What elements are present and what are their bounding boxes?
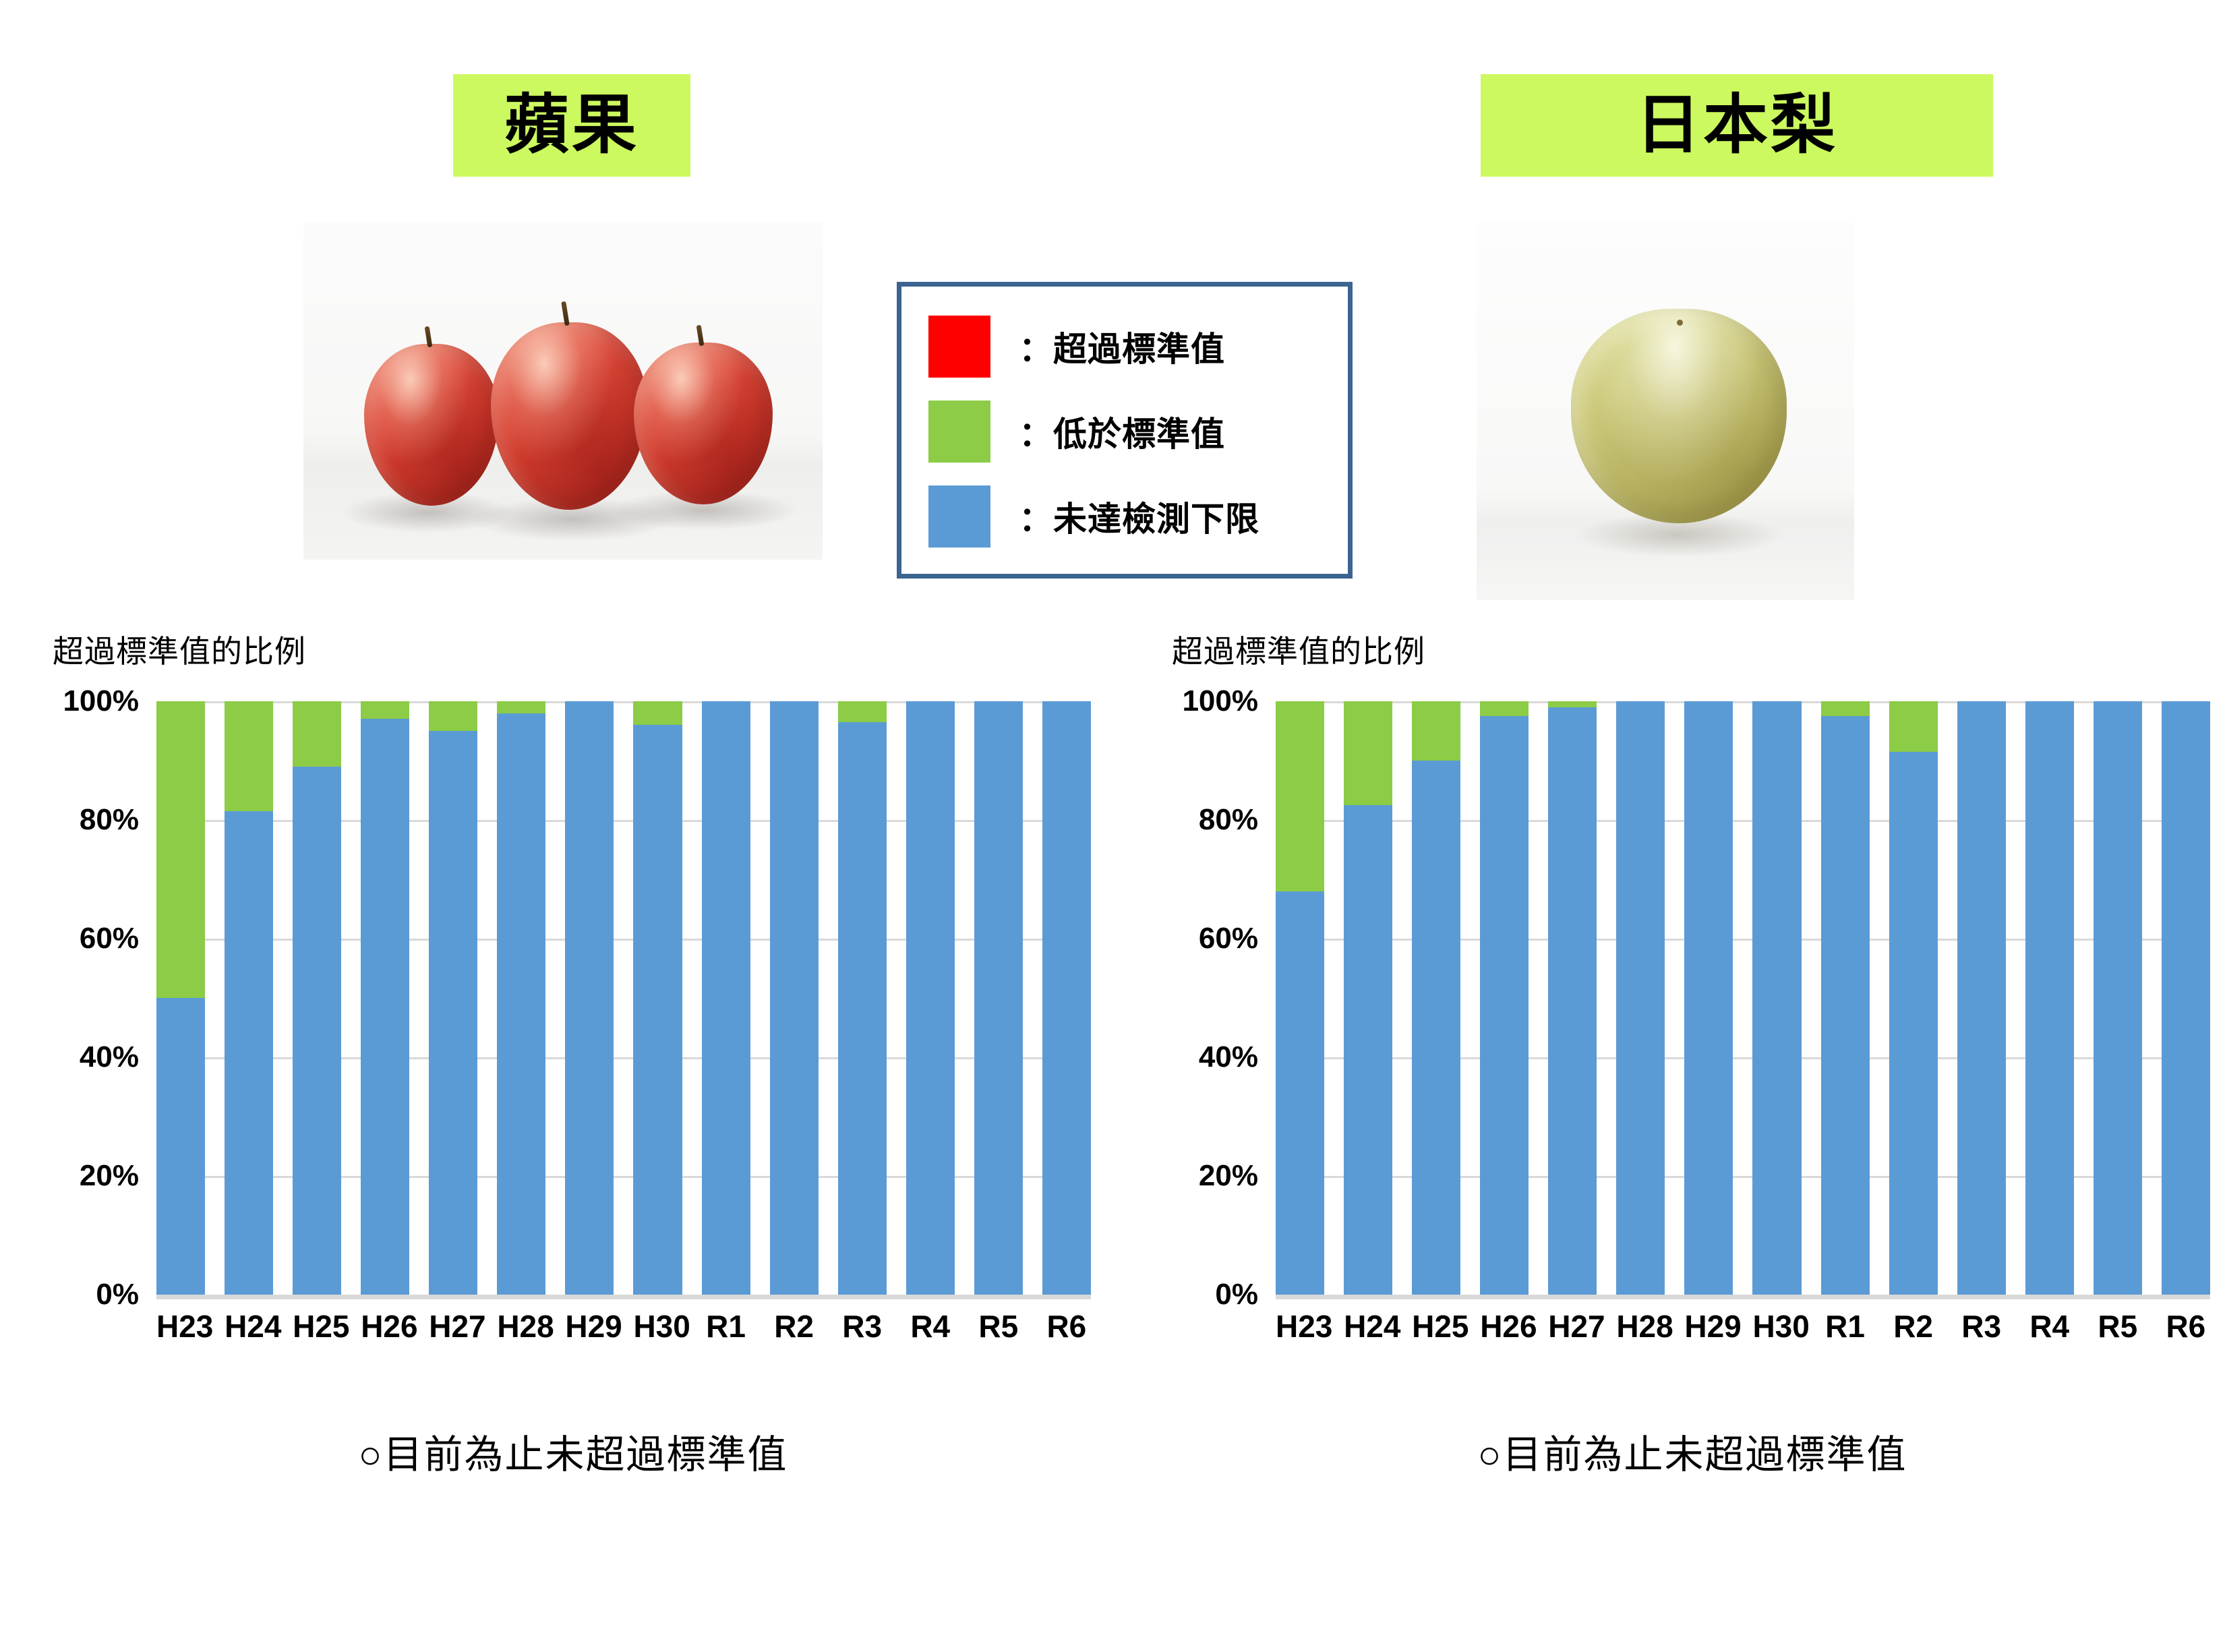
- bar-segment-below-detection-limit: [1412, 761, 1460, 1295]
- bar-segment-below-detection-limit: [633, 725, 682, 1295]
- bar-segment-below-standard: [361, 701, 409, 719]
- legend-label-below-standard: ：低於標準值: [1019, 407, 1225, 456]
- bar-segment-below-detection-limit: [1684, 701, 1733, 1295]
- x-tick-pear-R1: R1: [1821, 1308, 1870, 1345]
- bar-segment-below-standard: [1276, 701, 1324, 891]
- x-tick-pear-R2: R2: [1889, 1308, 1938, 1345]
- chart-panel-apple: 超過標準值的比例 100%80%60%40%20%0% H23H24H25H26…: [40, 627, 1106, 1585]
- apple-photo: [303, 223, 823, 560]
- y-tick-apple-5: 0%: [96, 1278, 139, 1311]
- bar-segment-below-detection-limit: [1480, 716, 1529, 1295]
- panel-title-apple-text: 蘋果: [504, 93, 639, 158]
- chart-caption-apple: 超過標準值的比例: [53, 627, 306, 672]
- legend-label-below-detection-limit: ：未達檢測下限: [1019, 492, 1259, 541]
- x-tick-apple-H27: H27: [429, 1308, 477, 1345]
- y-tick-apple-4: 20%: [80, 1159, 139, 1193]
- plot-area-pear: [1276, 701, 2210, 1295]
- y-tick-pear-2: 60%: [1199, 922, 1258, 955]
- panel-title-pear: 日本梨: [1481, 74, 1993, 177]
- bar-segment-below-detection-limit: [770, 701, 819, 1295]
- bar-segment-below-detection-limit: [838, 722, 887, 1295]
- bar-segment-below-detection-limit: [1889, 752, 1938, 1295]
- legend-swatch-blue: [928, 485, 990, 548]
- bar-pear-R5[interactable]: [2094, 701, 2142, 1295]
- bar-segment-below-standard: [225, 701, 273, 811]
- bar-segment-below-standard: [1344, 701, 1392, 805]
- y-tick-pear-1: 80%: [1199, 803, 1258, 837]
- y-axis-pear: 100%80%60%40%20%0%: [1160, 701, 1268, 1295]
- x-tick-apple-H29: H29: [565, 1308, 614, 1345]
- panel-title-pear-text: 日本梨: [1636, 93, 1838, 158]
- x-tick-apple-R4: R4: [906, 1308, 955, 1345]
- bar-apple-R4[interactable]: [906, 701, 955, 1295]
- bar-segment-below-standard: [156, 701, 205, 998]
- bar-apple-H24[interactable]: [225, 701, 273, 1295]
- footnote-mark-apple: ○: [358, 1433, 383, 1477]
- x-tick-pear-R6: R6: [2162, 1308, 2210, 1345]
- bar-pear-H25[interactable]: [1412, 701, 1460, 1295]
- bar-group-pear: [1276, 701, 2210, 1295]
- bar-pear-H23[interactable]: [1276, 701, 1324, 1295]
- footnote-text-pear: 目前為止未超過標準值: [1503, 1433, 1907, 1477]
- bar-pear-H30[interactable]: [1752, 701, 1801, 1295]
- bar-apple-H25[interactable]: [293, 701, 341, 1295]
- bar-apple-H23[interactable]: [156, 701, 205, 1295]
- x-tick-apple-R1: R1: [702, 1308, 750, 1345]
- bar-segment-below-detection-limit: [906, 701, 955, 1295]
- y-tick-pear-3: 40%: [1199, 1040, 1258, 1074]
- bar-segment-below-detection-limit: [1548, 707, 1597, 1295]
- bar-segment-below-standard: [838, 701, 887, 722]
- x-tick-pear-R5: R5: [2094, 1308, 2142, 1345]
- x-tick-apple-R5: R5: [974, 1308, 1023, 1345]
- x-tick-apple-R3: R3: [838, 1308, 887, 1345]
- bar-pear-H26[interactable]: [1480, 701, 1529, 1295]
- gridline-pear-5: [1276, 1295, 2210, 1299]
- bar-segment-below-standard: [1412, 701, 1460, 761]
- gridline-apple-5: [156, 1295, 1091, 1299]
- y-tick-pear-4: 20%: [1199, 1159, 1258, 1193]
- x-tick-pear-R4: R4: [2025, 1308, 2074, 1345]
- bar-pear-H24[interactable]: [1344, 701, 1392, 1295]
- x-axis-pear: H23H24H25H26H27H28H29H30R1R2R3R4R5R6: [1276, 1308, 2210, 1345]
- bar-apple-H27[interactable]: [429, 701, 477, 1295]
- plot-wrap-apple: 100%80%60%40%20%0% H23H24H25H26H27H28H29…: [40, 701, 1106, 1429]
- bar-segment-below-detection-limit: [2025, 701, 2074, 1295]
- bar-pear-H29[interactable]: [1684, 701, 1733, 1295]
- x-tick-pear-H25: H25: [1412, 1308, 1460, 1345]
- bar-segment-below-standard: [1548, 701, 1597, 707]
- x-tick-pear-H30: H30: [1752, 1308, 1801, 1345]
- bar-pear-R1[interactable]: [1821, 701, 1870, 1295]
- bar-segment-below-detection-limit: [702, 701, 750, 1295]
- chart-panel-pear: 超過標準值的比例 100%80%60%40%20%0% H23H24H25H26…: [1160, 627, 2225, 1585]
- legend-swatch-red: [928, 316, 990, 378]
- y-tick-apple-3: 40%: [80, 1040, 139, 1074]
- bar-segment-below-detection-limit: [1957, 701, 2006, 1295]
- bar-segment-below-detection-limit: [974, 701, 1023, 1295]
- x-tick-apple-H28: H28: [497, 1308, 545, 1345]
- x-tick-pear-H26: H26: [1480, 1308, 1529, 1345]
- bar-segment-below-detection-limit: [2162, 701, 2210, 1295]
- legend-item-below-standard: ：低於標準值: [928, 389, 1348, 474]
- apple-right: [634, 343, 773, 504]
- x-tick-apple-H24: H24: [225, 1308, 273, 1345]
- bar-pear-R2[interactable]: [1889, 701, 1938, 1295]
- bar-segment-below-detection-limit: [429, 731, 477, 1295]
- y-tick-apple-1: 80%: [80, 803, 139, 837]
- bar-pear-R6[interactable]: [2162, 701, 2210, 1295]
- y-tick-apple-0: 100%: [63, 684, 139, 718]
- bar-segment-below-standard: [429, 701, 477, 731]
- bar-apple-H26[interactable]: [361, 701, 409, 1295]
- x-axis-apple: H23H24H25H26H27H28H29H30R1R2R3R4R5R6: [156, 1308, 1091, 1345]
- bar-segment-below-standard: [1889, 701, 1938, 752]
- legend: ：超過標準值 ：低於標準值 ：未達檢測下限: [897, 282, 1353, 579]
- bar-apple-H30[interactable]: [633, 701, 682, 1295]
- x-tick-apple-R2: R2: [770, 1308, 819, 1345]
- bar-apple-R6[interactable]: [1042, 701, 1091, 1295]
- bar-segment-below-detection-limit: [1821, 716, 1870, 1295]
- pear-photo-scene: [1477, 223, 1854, 600]
- x-tick-apple-H26: H26: [361, 1308, 409, 1345]
- y-tick-apple-2: 60%: [80, 922, 139, 955]
- bar-pear-H28[interactable]: [1616, 701, 1665, 1295]
- bar-segment-below-detection-limit: [1616, 701, 1665, 1295]
- bar-apple-H29[interactable]: [565, 701, 614, 1295]
- bar-segment-below-standard: [1480, 701, 1529, 716]
- apple-middle: [491, 322, 647, 510]
- bar-apple-R5[interactable]: [974, 701, 1023, 1295]
- x-tick-pear-H27: H27: [1548, 1308, 1597, 1345]
- bar-segment-below-detection-limit: [1042, 701, 1091, 1295]
- x-tick-pear-H29: H29: [1684, 1308, 1733, 1345]
- plot-area-apple: [156, 701, 1091, 1295]
- bar-segment-below-detection-limit: [2094, 701, 2142, 1295]
- panel-title-apple: 蘋果: [453, 74, 690, 177]
- bar-apple-R1[interactable]: [702, 701, 750, 1295]
- bar-pear-R4[interactable]: [2025, 701, 2074, 1295]
- footnote-mark-pear: ○: [1477, 1433, 1502, 1477]
- footnote-pear: ○目前為止未超過標準值: [1160, 1423, 2225, 1479]
- x-tick-pear-H28: H28: [1616, 1308, 1665, 1345]
- y-tick-pear-5: 0%: [1215, 1278, 1258, 1311]
- bar-segment-below-detection-limit: [1344, 805, 1392, 1295]
- bar-apple-R3[interactable]: [838, 701, 887, 1295]
- x-tick-pear-R3: R3: [1957, 1308, 2006, 1345]
- bar-segment-below-detection-limit: [225, 811, 273, 1295]
- legend-item-below-detection-limit: ：未達檢測下限: [928, 474, 1348, 559]
- y-tick-pear-0: 100%: [1182, 684, 1258, 718]
- bar-segment-below-standard: [293, 701, 341, 767]
- bar-segment-below-standard: [1821, 701, 1870, 716]
- x-tick-pear-H24: H24: [1344, 1308, 1392, 1345]
- plot-wrap-pear: 100%80%60%40%20%0% H23H24H25H26H27H28H29…: [1160, 701, 2225, 1429]
- x-tick-apple-H23: H23: [156, 1308, 205, 1345]
- x-tick-apple-R6: R6: [1042, 1308, 1091, 1345]
- chart-caption-pear: 超過標準值的比例: [1172, 627, 1425, 672]
- bar-apple-R2[interactable]: [770, 701, 819, 1295]
- bar-segment-below-detection-limit: [293, 767, 341, 1295]
- bar-segment-below-detection-limit: [1276, 891, 1324, 1295]
- footnote-text-apple: 目前為止未超過標準值: [384, 1433, 788, 1477]
- pear-photo: [1477, 223, 1854, 600]
- apple-left: [364, 344, 499, 506]
- bar-apple-H28[interactable]: [497, 701, 545, 1295]
- bar-segment-below-standard: [633, 701, 682, 725]
- bar-segment-below-detection-limit: [361, 719, 409, 1295]
- legend-label-above-standard: ：超過標準值: [1019, 322, 1225, 371]
- legend-item-above-standard: ：超過標準值: [928, 304, 1348, 389]
- bar-segment-below-detection-limit: [565, 701, 614, 1295]
- bar-segment-below-standard: [497, 701, 545, 713]
- x-tick-apple-H30: H30: [633, 1308, 682, 1345]
- bar-segment-below-detection-limit: [156, 998, 205, 1295]
- footnote-apple: ○目前為止未超過標準值: [40, 1423, 1106, 1479]
- apple-photo-scene: [303, 223, 823, 560]
- x-tick-pear-H23: H23: [1276, 1308, 1324, 1345]
- bar-segment-below-detection-limit: [497, 713, 545, 1295]
- pear-fruit: [1571, 309, 1787, 523]
- bar-segment-below-detection-limit: [1752, 701, 1801, 1295]
- bar-pear-R3[interactable]: [1957, 701, 2006, 1295]
- bar-group-apple: [156, 701, 1091, 1295]
- bar-pear-H27[interactable]: [1548, 701, 1597, 1295]
- x-tick-apple-H25: H25: [293, 1308, 341, 1345]
- legend-swatch-green: [928, 401, 990, 463]
- y-axis-apple: 100%80%60%40%20%0%: [40, 701, 148, 1295]
